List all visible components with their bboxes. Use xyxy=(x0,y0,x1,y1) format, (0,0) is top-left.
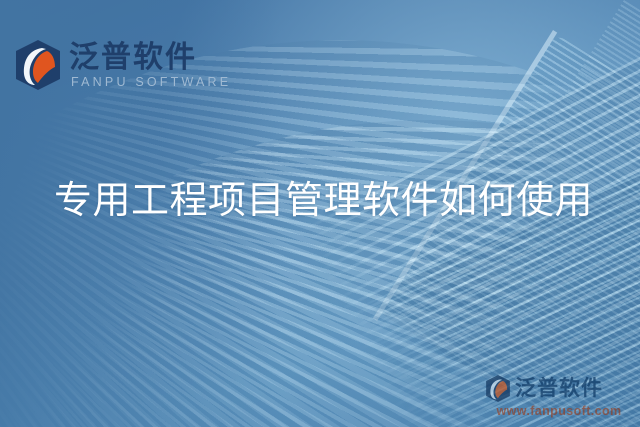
fanpu-logo-mark-icon xyxy=(486,375,510,402)
page-title: 专用工程项目管理软件如何使用 xyxy=(54,178,593,223)
fanpu-logo-mark-icon xyxy=(16,40,60,90)
brand-name-en: FANPU SOFTWARE xyxy=(69,76,231,89)
brand-text-block: 泛普软件 FANPU SOFTWARE xyxy=(69,42,231,88)
watermark-url: www.fanpusoft.com xyxy=(486,405,632,418)
brand-name-cn: 泛普软件 xyxy=(69,42,231,74)
banner-image: 泛普软件 FANPU SOFTWARE 专用工程项目管理软件如何使用 泛普软件 … xyxy=(0,0,640,427)
watermark-logo-row: 泛普软件 xyxy=(486,375,632,402)
watermark: 泛普软件 www.fanpusoft.com xyxy=(486,375,632,418)
watermark-name-cn: 泛普软件 xyxy=(515,378,603,399)
brand-logo: 泛普软件 FANPU SOFTWARE xyxy=(16,40,231,90)
